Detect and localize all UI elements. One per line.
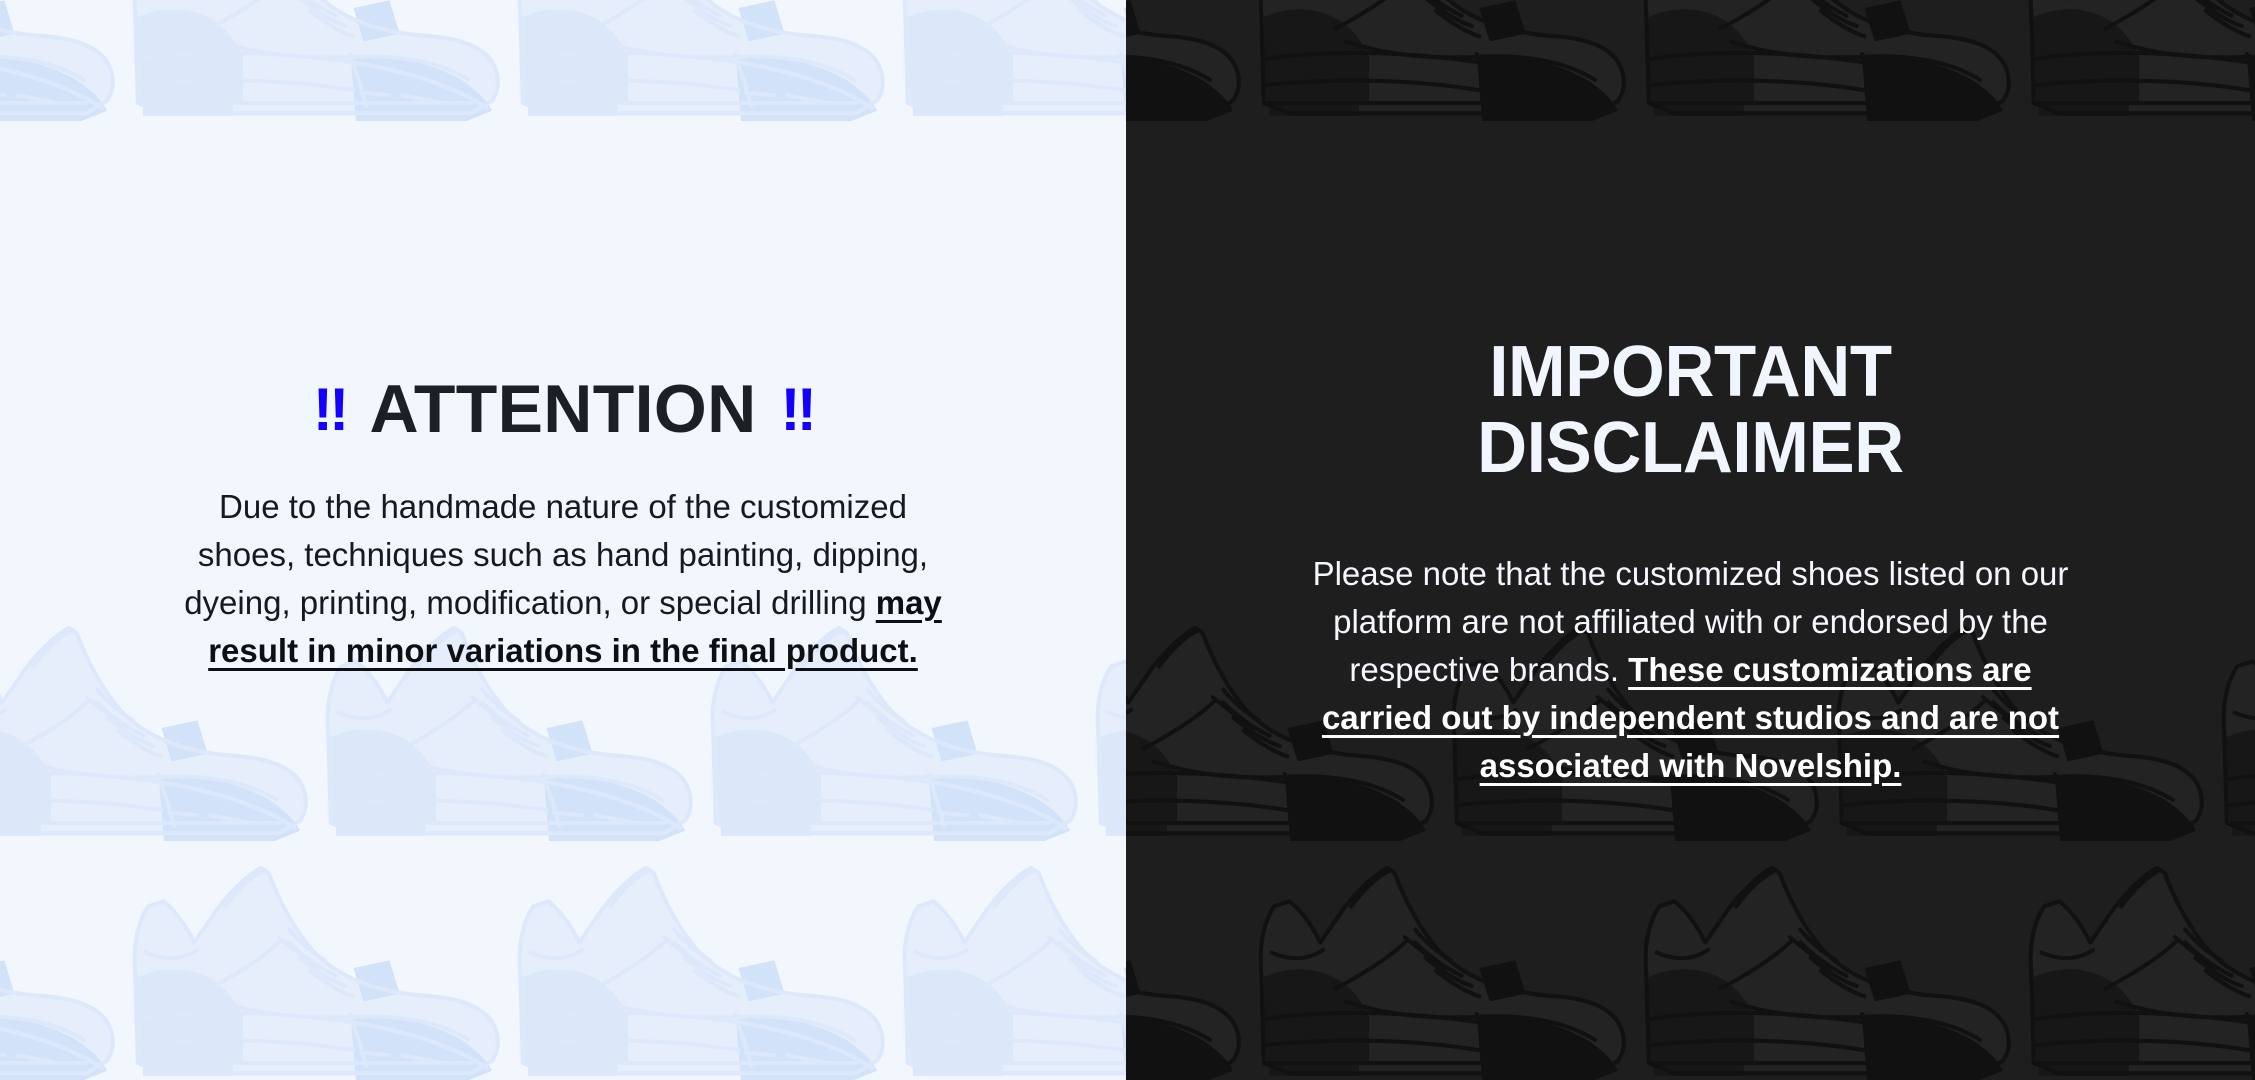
attention-body: Due to the handmade nature of the custom… <box>168 483 958 674</box>
disclaimer-heading: IMPORTANT DISCLAIMER <box>1149 335 2233 486</box>
double-exclamation-left-icon: ‼ <box>313 376 346 443</box>
disclaimer-heading-line-2: DISCLAIMER <box>1149 411 2233 487</box>
attention-content: ‼ATTENTION‼ Due to the handmade nature o… <box>0 0 1126 674</box>
sneaker-icon <box>895 700 1126 1080</box>
attention-panel: ‼ATTENTION‼ Due to the handmade nature o… <box>0 0 1126 1080</box>
attention-body-plain: Due to the handmade nature of the custom… <box>184 488 928 621</box>
disclaimer-body: Please note that the customized shoes li… <box>1291 550 2091 789</box>
disclaimer-panel: IMPORTANT DISCLAIMER Please note that th… <box>1126 0 2255 1080</box>
sneaker-icon <box>125 700 510 1080</box>
sneaker-icon <box>0 700 125 1080</box>
disclaimer-content: IMPORTANT DISCLAIMER Please note that th… <box>1126 0 2255 789</box>
attention-heading: ‼ATTENTION‼ <box>0 375 1126 443</box>
attention-heading-text: ATTENTION <box>369 371 756 447</box>
disclaimer-heading-line-1: IMPORTANT <box>1149 335 2233 411</box>
sneaker-icon <box>510 700 895 1080</box>
double-exclamation-right-icon: ‼ <box>781 376 814 443</box>
